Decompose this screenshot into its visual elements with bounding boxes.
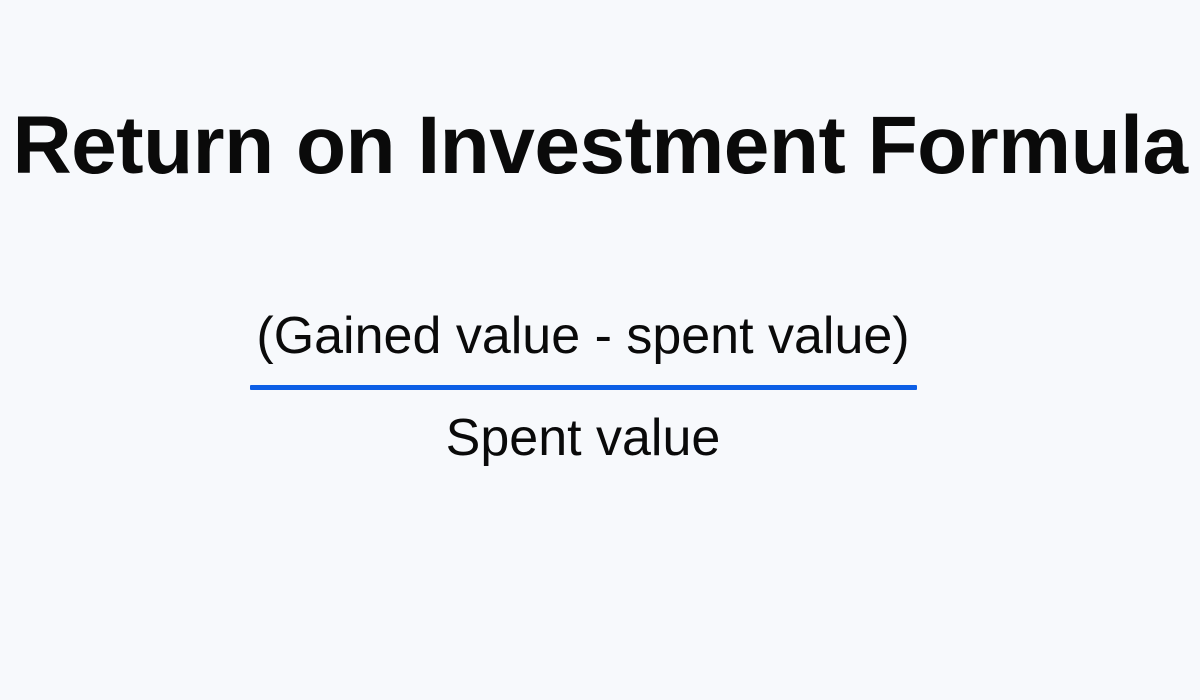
- fraction-bar: [250, 385, 917, 390]
- fraction-denominator: Spent value: [446, 408, 721, 469]
- page-title: Return on Investment Formula: [0, 102, 1200, 191]
- formula-block: (Gained value - spent value) Spent value: [0, 306, 1166, 470]
- fraction-numerator: (Gained value - spent value): [254, 306, 911, 367]
- roi-formula-slide: Return on Investment Formula (Gained val…: [0, 0, 1200, 700]
- fraction: (Gained value - spent value) Spent value: [250, 306, 917, 470]
